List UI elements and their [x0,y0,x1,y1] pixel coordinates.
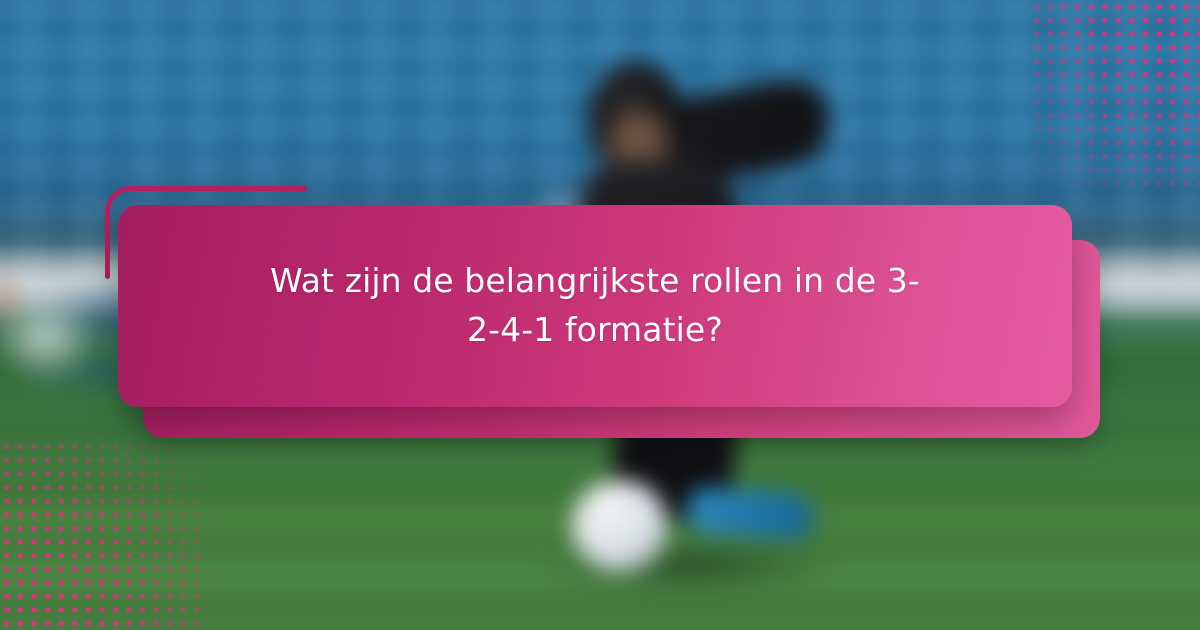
halftone-dots-bottom-left-icon [0,440,205,630]
halftone-dots-top-right-icon [1030,0,1200,190]
social-card-canvas: Wat zijn de belangrijkste rollen in de 3… [0,0,1200,630]
title-card: Wat zijn de belangrijkste rollen in de 3… [118,205,1072,407]
outline-cap-horizontal [302,186,307,191]
page-title: Wat zijn de belangrijkste rollen in de 3… [200,257,990,355]
outline-cap-vertical [105,274,110,279]
